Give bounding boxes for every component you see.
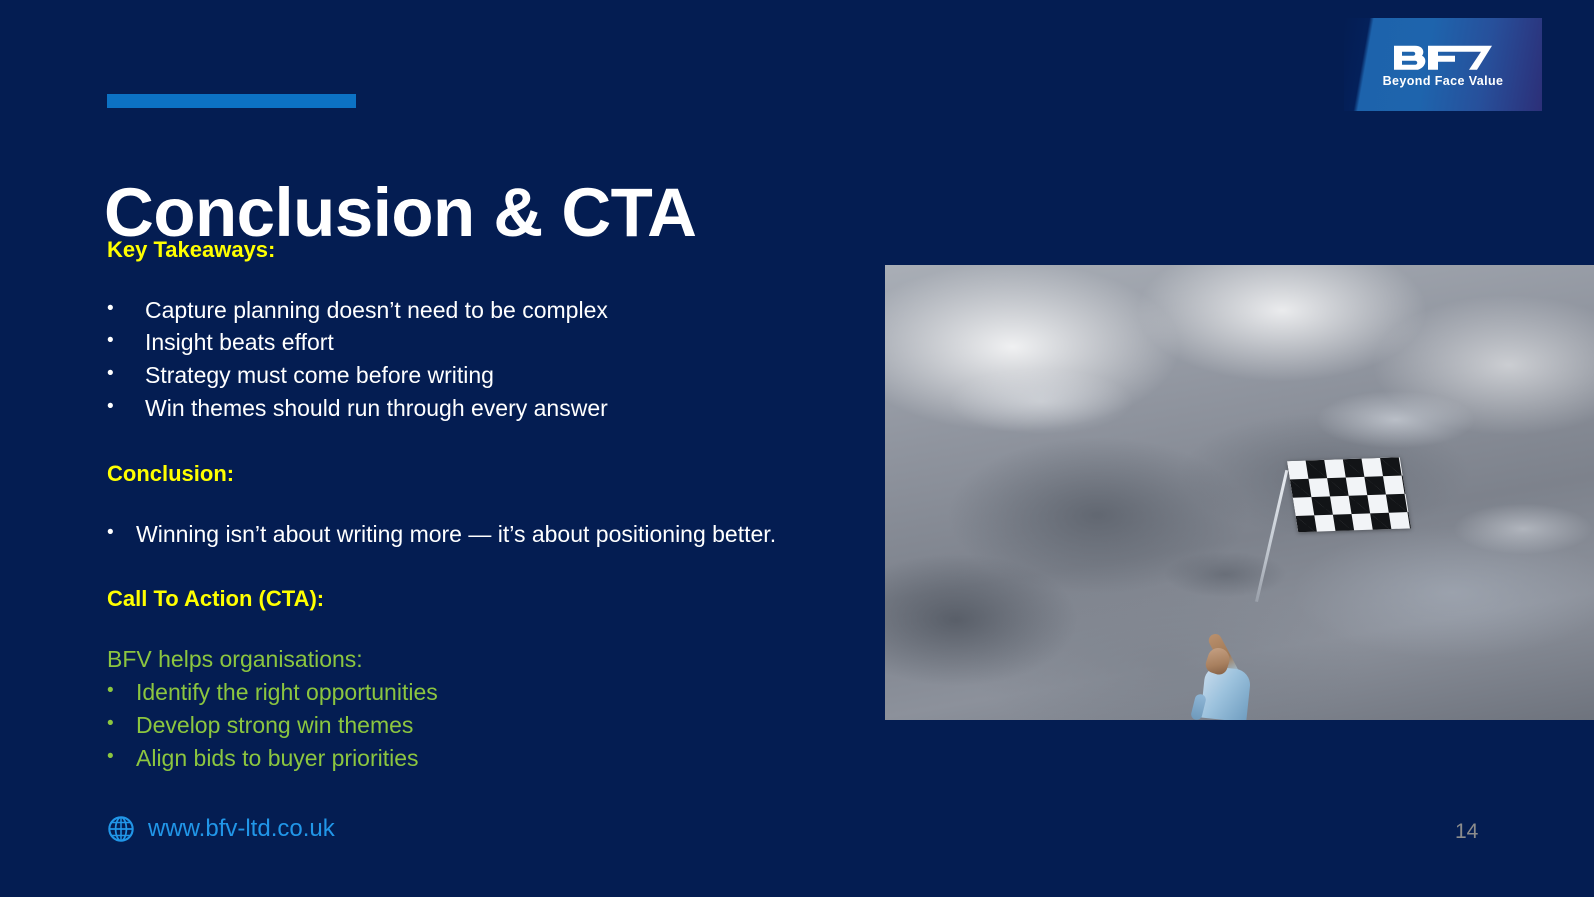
list-item-label: Strategy must come before writing (145, 359, 867, 392)
takeaways-list: • Capture planning doesn’t need to be co… (107, 294, 867, 426)
list-item: • Develop strong win themes (107, 709, 867, 742)
brand-tagline: Beyond Face Value (1344, 74, 1542, 87)
slide-photo (885, 265, 1594, 720)
bullet-glyph: • (107, 518, 136, 549)
list-item: • Align bids to buyer priorities (107, 742, 867, 775)
list-item-label: Capture planning doesn’t need to be comp… (145, 294, 867, 327)
list-item: • Identify the right opportunities (107, 676, 867, 709)
bullet-glyph: • (107, 359, 145, 390)
list-item-label: Identify the right opportunities (136, 676, 867, 709)
cta-lead-text: BFV helps organisations: (107, 643, 867, 676)
list-item-label: Win themes should run through every answ… (145, 392, 867, 425)
list-item-label: Develop strong win themes (136, 709, 867, 742)
list-item-label: Align bids to buyer priorities (136, 742, 867, 775)
list-item-label: Insight beats effort (145, 326, 867, 359)
person-figure (1189, 648, 1281, 720)
checkered-flag-icon (1284, 446, 1410, 543)
person-torso (1200, 666, 1251, 720)
list-item: • Insight beats effort (107, 326, 867, 359)
website-link[interactable]: www.bfv-ltd.co.uk (107, 815, 335, 843)
list-item: • Capture planning doesn’t need to be co… (107, 294, 867, 327)
checkered-flag-cloth (1287, 457, 1411, 532)
bullet-glyph: • (107, 709, 136, 740)
globe-icon (107, 815, 135, 843)
section-heading-cta: Call To Action (CTA): (107, 585, 867, 613)
brand-logo: Beyond Face Value (1344, 18, 1542, 111)
title-accent-bar (107, 94, 356, 108)
cta-list: • Identify the right opportunities • Dev… (107, 676, 867, 775)
bullet-glyph: • (107, 392, 145, 423)
bullet-glyph: • (107, 676, 136, 707)
slide-body: Key Takeaways: • Capture planning doesn’… (107, 236, 867, 774)
section-heading-takeaways: Key Takeaways: (107, 236, 867, 264)
list-item: • Winning isn’t about writing more — it’… (107, 518, 867, 551)
conclusion-list: • Winning isn’t about writing more — it’… (107, 518, 867, 551)
bullet-glyph: • (107, 742, 136, 773)
list-item: • Win themes should run through every an… (107, 392, 867, 425)
list-item: • Strategy must come before writing (107, 359, 867, 392)
section-heading-conclusion: Conclusion: (107, 460, 867, 488)
page-number: 14 (1455, 820, 1478, 844)
presentation-slide: Beyond Face Value Conclusion & CTA Key T… (0, 0, 1594, 897)
website-url-label: www.bfv-ltd.co.uk (148, 817, 335, 841)
bfv-monogram-icon (1391, 42, 1495, 72)
bullet-glyph: • (107, 326, 145, 357)
brand-logo-inner: Beyond Face Value (1344, 42, 1542, 87)
bullet-glyph: • (107, 294, 145, 325)
list-item-label: Winning isn’t about writing more — it’s … (136, 518, 867, 551)
